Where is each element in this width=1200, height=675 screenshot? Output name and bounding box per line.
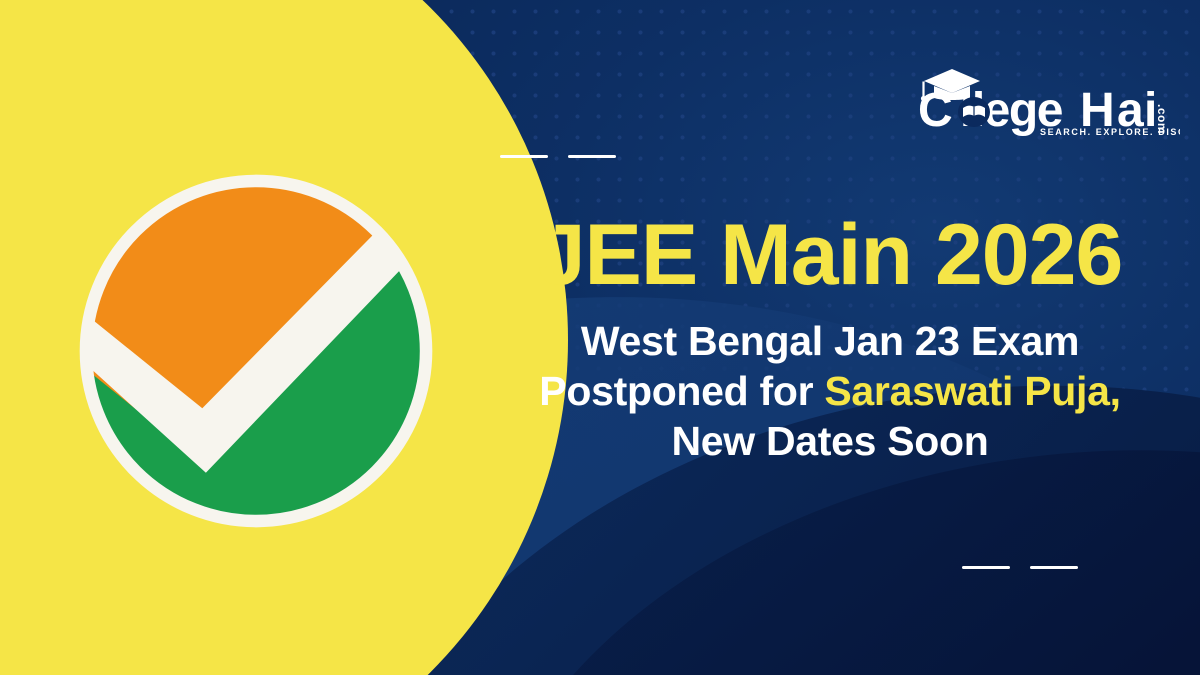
banner-copy: JEE Main 2026 West Bengal Jan 23 Exam Po… xyxy=(480,212,1180,466)
nta-emblem-icon xyxy=(77,172,435,530)
dash-mark xyxy=(1030,566,1078,569)
logo-tagline: SEARCH. EXPLORE. DISCOVER xyxy=(1040,127,1180,137)
page-title: JEE Main 2026 xyxy=(480,212,1180,298)
collegehai-logo[interactable]: C llege H a i .com SEARCH. EXPLORE. DISC… xyxy=(912,60,1180,138)
dash-decoration-bottom xyxy=(962,566,1078,569)
dash-decoration-top xyxy=(500,155,616,158)
banner-subtitle: West Bengal Jan 23 Exam Postponed for Sa… xyxy=(480,316,1180,466)
dash-mark xyxy=(568,155,616,158)
svg-text:C: C xyxy=(918,84,952,137)
dash-mark xyxy=(500,155,548,158)
open-book-icon xyxy=(958,97,990,127)
subtitle-line-2: Postponed for Saraswati Puja, xyxy=(480,366,1180,416)
subtitle-line-3: New Dates Soon xyxy=(480,416,1180,466)
dash-mark xyxy=(962,566,1010,569)
promo-banner: C llege H a i .com SEARCH. EXPLORE. DISC… xyxy=(0,0,1200,675)
subtitle-highlight: Saraswati Puja, xyxy=(824,368,1120,414)
subtitle-line-1: West Bengal Jan 23 Exam xyxy=(480,316,1180,366)
subtitle-line-2-prefix: Postponed for xyxy=(539,368,824,414)
